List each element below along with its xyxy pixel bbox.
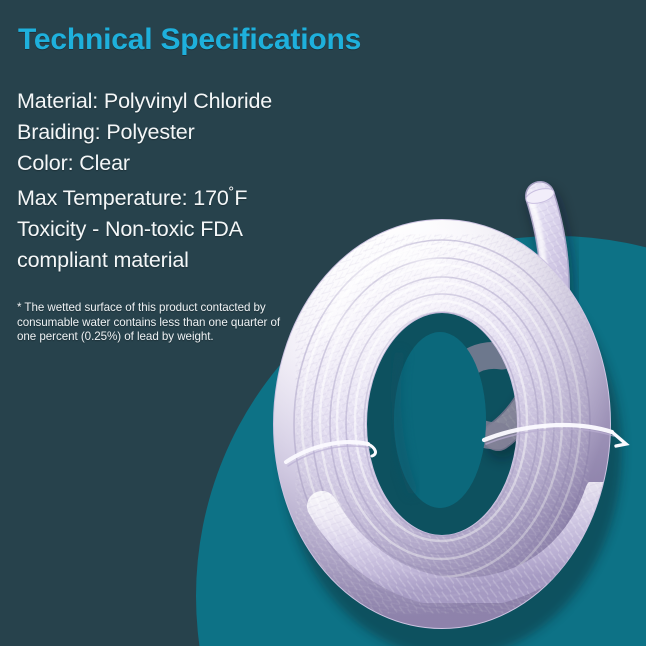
spec-line-material: Material: Polyvinyl Chloride [17,86,337,117]
product-spec-card: Technical Specifications Material: Polyv… [0,0,646,646]
footnote-lead-disclaimer: * The wetted surface of this product con… [17,301,285,345]
spec-list: Material: Polyvinyl Chloride Braiding: P… [17,86,337,276]
spec-line-braiding: Braiding: Polyester [17,117,337,148]
spec-max-temperature-unit: F [234,186,247,210]
spec-line-max-temperature: Max Temperature: 170˚F [17,179,337,214]
spec-line-color: Color: Clear [17,148,337,179]
page-title: Technical Specifications [18,23,361,57]
spec-text-block: Technical Specifications Material: Polyv… [0,0,330,400]
spec-max-temperature-text: Max Temperature: 170 [17,186,229,210]
spec-line-toxicity: Toxicity - Non-toxic FDA compliant mater… [17,214,302,276]
